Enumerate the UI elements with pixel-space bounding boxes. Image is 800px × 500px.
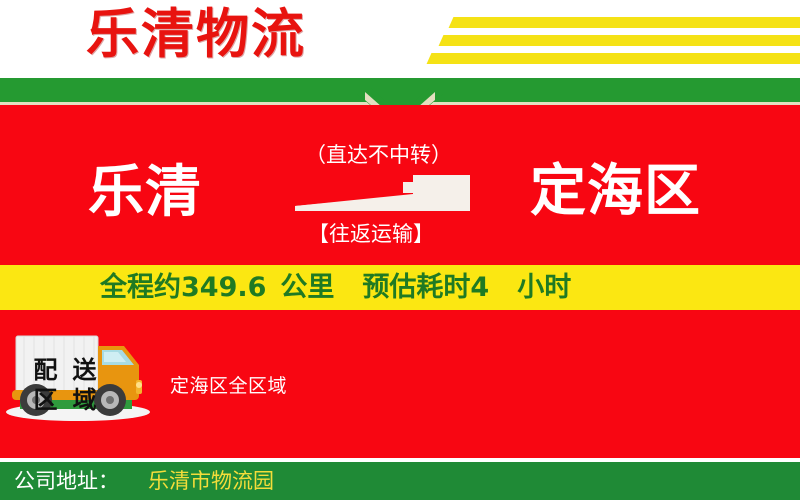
stripe-3 [427,53,800,64]
coverage-area-text: 定海区全区域 [170,371,287,398]
truck-label: 配 送 区 域 [26,356,104,416]
truck-label-char-3: 区 [26,386,65,416]
company-address-value: 乐清市物流园 [148,468,274,495]
truck-label-char-1: 配 [26,356,65,386]
route-destination: 定海区 [530,161,701,223]
delivery-truck-icon: 配 送 区 域 [6,328,156,423]
brand-title: 乐清物流 [86,6,306,64]
truck-label-char-2: 送 [65,356,104,386]
route-note-bottom: 【往返运输】 [308,218,434,248]
stripe-2 [439,35,800,46]
logistics-banner: 乐清物流 （直达不中转） 乐清 【往返运输】 定海区 [0,0,800,500]
banner-header: 乐清物流 [0,0,800,78]
duration-value: 预估耗时4 [362,272,489,303]
diagonal-stripes-icon [415,0,800,78]
info-bar: 全程约349.6公里预估耗时4小时 [0,265,800,310]
banner-footer: 公司地址： 乐清市物流园 [0,462,800,500]
truck-label-char-4: 域 [65,386,104,416]
distance-value: 全程约349.6 [100,272,266,303]
route-origin: 乐清 [88,163,202,223]
double-arrow-horizontal-icon [295,173,470,213]
distance-unit: 公里 [280,272,334,303]
duration-unit: 小时 [517,272,571,303]
company-address-label: 公司地址： [14,468,119,495]
route-section: （直达不中转） 乐清 【往返运输】 定海区 [0,105,800,265]
stripe-1 [449,17,800,28]
route-note-top: （直达不中转） [305,139,452,169]
info-bar-text: 全程约349.6公里预估耗时4小时 [100,271,571,305]
delivery-section: 配 送 区 域 定海区全区域 [0,310,800,458]
